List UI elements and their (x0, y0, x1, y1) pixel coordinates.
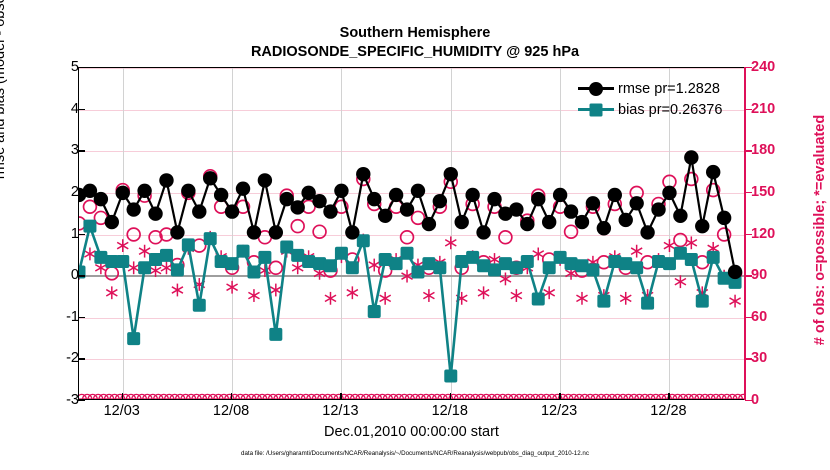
bias-marker (663, 257, 676, 270)
y-tick-label-left: 2 (39, 192, 79, 208)
asterisk-marker (478, 286, 489, 299)
x-tick-mark (340, 393, 341, 400)
chart-legend: rmse pr=1.2828 bias pr=0.26376 (578, 78, 722, 120)
bias-marker (597, 295, 610, 308)
x-tick-mark (231, 393, 232, 400)
bias-marker (543, 261, 556, 274)
y-tick-mark-right (745, 150, 752, 151)
bias-marker (116, 255, 129, 268)
rmse-marker (105, 215, 119, 229)
rmse-marker (247, 225, 261, 239)
rmse-marker (181, 184, 195, 198)
obs-possible-marker (313, 225, 326, 238)
rmse-marker (608, 188, 622, 202)
bias-marker (685, 253, 698, 266)
asterisk-marker (325, 292, 336, 305)
filled-circle-icon (589, 82, 603, 96)
x-tick-label: 12/13 (305, 403, 375, 419)
rmse-marker (378, 209, 392, 223)
rmse-marker (455, 215, 469, 229)
y-tick-mark-left (78, 192, 85, 193)
y-tick-label-left: 3 (39, 150, 79, 166)
y-tick-label-left: -2 (39, 358, 79, 374)
bias-marker (182, 238, 195, 251)
bias-marker (83, 220, 96, 233)
rmse-marker (487, 192, 501, 206)
chart-title-line1: Southern Hemisphere (0, 25, 830, 41)
x-tick-mark (450, 393, 451, 400)
y-tick-label-right: 240 (751, 67, 797, 83)
rmse-marker (695, 219, 709, 233)
rmse-marker (586, 196, 600, 210)
rmse-marker (148, 206, 162, 220)
y-tick-mark-left (78, 358, 85, 359)
obs-possible-marker (401, 231, 414, 244)
x-tick-label: 12/18 (415, 403, 485, 419)
y-tick-label-right: 150 (751, 192, 797, 208)
bias-marker (401, 247, 414, 260)
legend-item-bias[interactable]: bias pr=0.26376 (578, 99, 722, 120)
y-tick-label-right: 120 (751, 234, 797, 250)
data-file-footer: data file: /Users/gharamti/Documents/NCA… (0, 450, 830, 457)
x-tick-mark (559, 393, 560, 400)
asterisk-marker (445, 236, 456, 249)
rmse-marker (192, 204, 206, 218)
bias-marker (247, 265, 260, 278)
bias-marker (204, 232, 217, 245)
rmse-marker (400, 202, 414, 216)
rmse-marker (214, 188, 228, 202)
rmse-marker (662, 186, 676, 200)
rmse-marker (542, 215, 556, 229)
rmse-marker (170, 225, 184, 239)
rmse-marker (94, 192, 108, 206)
y-tick-label-right: 0 (751, 400, 797, 416)
obs-possible-marker (674, 234, 687, 247)
obs-possible-marker (269, 261, 282, 274)
asterisk-marker (139, 245, 150, 258)
asterisk-marker (380, 292, 391, 305)
y-tick-label-left: -1 (39, 317, 79, 333)
rmse-marker (684, 150, 698, 164)
bias-marker (532, 293, 545, 306)
y-tick-mark-right (745, 192, 752, 193)
y-tick-mark-right (745, 400, 752, 401)
x-tick-label: 12/28 (633, 403, 703, 419)
y-tick-label-right: 90 (751, 275, 797, 291)
bias-marker (444, 370, 457, 383)
rmse-marker (411, 184, 425, 198)
asterisk-marker (84, 248, 95, 261)
y-tick-mark-left (78, 234, 85, 235)
bias-marker (521, 255, 534, 268)
rmse-marker (531, 192, 545, 206)
rmse-marker (520, 217, 534, 231)
bias-marker (346, 261, 359, 274)
asterisk-marker (161, 261, 172, 274)
bias-marker (324, 259, 337, 272)
rmse-marker (236, 182, 250, 196)
asterisk-marker (500, 273, 511, 286)
rmse-marker (476, 225, 490, 239)
asterisk-marker (675, 275, 686, 288)
rmse-marker (345, 225, 359, 239)
rmse-marker (629, 196, 643, 210)
x-tick-label: 12/08 (196, 403, 266, 419)
x-axis-label: Dec.01,2010 00:00:00 start (78, 424, 745, 440)
asterisk-marker (128, 261, 139, 274)
rmse-marker (422, 217, 436, 231)
rmse-marker (509, 202, 523, 216)
bias-marker (586, 263, 599, 276)
y-tick-label-left: 1 (39, 234, 79, 250)
rmse-marker (444, 167, 458, 181)
bias-marker (368, 305, 381, 318)
rmse-marker (575, 215, 589, 229)
bias-marker (258, 251, 271, 264)
asterisk-marker (686, 236, 697, 249)
y-tick-label-right: 30 (751, 358, 797, 374)
asterisk-marker (511, 289, 522, 302)
asterisk-marker (620, 292, 631, 305)
legend-line-bias (578, 108, 614, 111)
y-tick-mark-right (745, 317, 752, 318)
y-tick-label-right: 60 (751, 317, 797, 333)
y-tick-mark-left (78, 109, 85, 110)
filled-square-icon (590, 103, 603, 116)
asterisk-marker (292, 261, 303, 274)
y-tick-mark-right (745, 234, 752, 235)
rmse-marker (619, 213, 633, 227)
rmse-marker (116, 186, 130, 200)
rmse-marker (159, 173, 173, 187)
rmse-marker (651, 202, 665, 216)
asterisk-marker (347, 286, 358, 299)
x-tick-label: 12/03 (87, 403, 157, 419)
rmse-marker (728, 265, 742, 279)
x-tick-label: 12/23 (524, 403, 594, 419)
asterisk-marker (631, 245, 642, 258)
asterisk-marker (150, 264, 161, 277)
rmse-marker (717, 211, 731, 225)
asterisk-marker (172, 284, 183, 297)
y-axis-label-right: # of obs: o=possible; *=evaluated (812, 60, 828, 400)
y-axis-label-left: rmse and bias (model - observation) (0, 0, 8, 233)
x-tick-mark (668, 393, 669, 400)
y-tick-mark-left (78, 400, 85, 401)
asterisk-marker (576, 292, 587, 305)
rmse-marker (553, 188, 567, 202)
rmse-marker (640, 225, 654, 239)
obs-possible-marker (565, 225, 578, 238)
bias-marker (630, 261, 643, 274)
rmse-marker (312, 194, 326, 208)
obs-possible-marker (105, 267, 118, 280)
bias-marker (160, 249, 173, 262)
bias-marker (171, 263, 184, 276)
rmse-marker (225, 204, 239, 218)
legend-label-bias: bias pr=0.26376 (618, 102, 722, 118)
y-tick-label-left: 0 (39, 275, 79, 291)
rmse-marker (673, 209, 687, 223)
y-tick-label-right: 210 (751, 109, 797, 125)
chart-title-line2: RADIOSONDE_SPECIFIC_HUMIDITY @ 925 hPa (0, 44, 830, 60)
bias-marker (390, 257, 403, 270)
rmse-marker (564, 204, 578, 218)
obs-possible-marker (127, 228, 140, 241)
y-tick-label-left: 5 (39, 67, 79, 83)
bias-marker (433, 261, 446, 274)
rmse-marker (433, 194, 447, 208)
bias-marker (357, 234, 370, 247)
y-tick-mark-right (745, 109, 752, 110)
rmse-marker (334, 184, 348, 198)
rmse-marker (323, 204, 337, 218)
rmse-marker (389, 188, 403, 202)
y-tick-mark-left (78, 275, 85, 276)
x-tick-mark (122, 393, 123, 400)
legend-label-rmse: rmse pr=1.2828 (618, 81, 720, 97)
obs-possible-marker (499, 231, 512, 244)
asterisk-marker (401, 270, 412, 283)
asterisk-marker (106, 286, 117, 299)
bias-marker (696, 295, 709, 308)
rmse-marker (356, 167, 370, 181)
bias-marker (269, 328, 282, 341)
rmse-marker (203, 171, 217, 185)
chart-page: Southern Hemisphere RADIOSONDE_SPECIFIC_… (0, 0, 830, 470)
legend-line-rmse (578, 87, 614, 90)
y-tick-label-left: -3 (39, 400, 79, 416)
y-tick-mark-right (745, 67, 752, 68)
legend-item-rmse[interactable]: rmse pr=1.2828 (578, 78, 722, 99)
rmse-marker (137, 184, 151, 198)
asterisk-marker (117, 239, 128, 252)
rmse-marker (126, 202, 140, 216)
asterisk-marker (544, 286, 555, 299)
bias-marker (707, 251, 720, 264)
y-tick-mark-right (745, 275, 752, 276)
asterisk-marker (730, 295, 741, 308)
y-tick-mark-left (78, 150, 85, 151)
asterisk-marker (227, 281, 238, 294)
y-tick-label-left: 4 (39, 109, 79, 125)
bias-marker (237, 245, 250, 258)
y-tick-mark-right (745, 358, 752, 359)
bias-marker (193, 299, 206, 312)
rmse-marker (465, 188, 479, 202)
rmse-marker (269, 225, 283, 239)
y-tick-label-right: 180 (751, 150, 797, 166)
bias-marker (226, 257, 239, 270)
bias-marker (335, 247, 348, 260)
y-tick-mark-left (78, 317, 85, 318)
rmse-marker (258, 173, 272, 187)
obs-possible-marker (291, 220, 304, 233)
y-tick-mark-left (78, 67, 85, 68)
asterisk-marker (423, 289, 434, 302)
rmse-marker (597, 221, 611, 235)
bias-marker (127, 332, 140, 345)
rmse-marker (290, 200, 304, 214)
asterisk-marker (248, 289, 259, 302)
bias-marker (641, 297, 654, 310)
rmse-marker (706, 165, 720, 179)
rmse-marker (367, 192, 381, 206)
